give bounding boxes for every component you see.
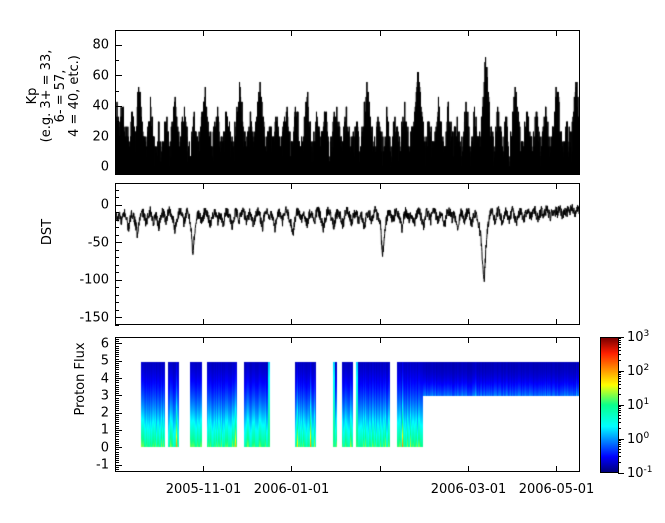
ytick-minor-mark [115, 395, 119, 396]
colorbar-minor-tick-mark [618, 342, 621, 343]
xtick-mark [556, 466, 557, 472]
ytick-minor-mark [115, 369, 119, 370]
xtick-mark [468, 319, 469, 325]
ytick-label: 20 [69, 129, 109, 144]
ytick-minor-mark [115, 287, 119, 288]
ytick-minor-mark [115, 91, 119, 92]
colorbar-minor-tick-mark [618, 381, 621, 382]
xtick-mark [380, 30, 381, 36]
colorbar-tick-label: 100 [627, 431, 649, 447]
ytick-minor-mark [115, 280, 119, 281]
ytick-minor-mark [115, 402, 119, 403]
ytick-label: 5 [69, 354, 109, 369]
ytick-minor-mark [115, 421, 119, 422]
ytick-minor-mark [115, 337, 119, 338]
ytick-minor-mark [115, 436, 119, 437]
ytick-minor-mark [115, 75, 119, 76]
colorbar-minor-tick-mark [618, 376, 621, 377]
ytick-minor-mark [115, 183, 119, 184]
ytick-minor-mark [115, 227, 119, 228]
colorbar-tick-label: 101 [627, 397, 649, 413]
ytick-minor-mark [115, 432, 119, 433]
colorbar-minor-tick-mark [618, 428, 621, 429]
ytick-minor-mark [115, 441, 119, 442]
ytick-minor-mark [115, 363, 119, 364]
xtick-label: 2006-05-01 [519, 482, 595, 497]
colorbar [600, 337, 619, 473]
colorbar-minor-tick-mark [618, 412, 621, 413]
ytick-minor-mark [115, 393, 119, 394]
ytick-label: 0 [69, 198, 109, 213]
ytick-minor-mark [115, 404, 119, 405]
ytick-minor-mark [115, 295, 119, 296]
ytick-minor-mark [115, 462, 119, 463]
ytick-minor-mark [115, 374, 119, 375]
ytick-minor-mark [115, 30, 119, 31]
colorbar-minor-tick-mark [618, 449, 621, 450]
colorbar-minor-tick-mark [618, 456, 621, 457]
ytick-minor-mark [115, 121, 119, 122]
colorbar-minor-tick-mark [618, 338, 621, 339]
ytick-minor-mark [115, 341, 119, 342]
xtick-mark [291, 169, 292, 175]
xtick-mark [380, 319, 381, 325]
ytick-minor-mark [115, 265, 119, 266]
ytick-minor-mark [115, 197, 119, 198]
ytick-label: 6 [69, 336, 109, 351]
ytick-minor-mark [115, 426, 119, 427]
ytick-minor-mark [115, 317, 119, 318]
ytick-label: 2 [69, 406, 109, 421]
xtick-label: 2006-03-01 [431, 482, 507, 497]
ytick-minor-mark [115, 447, 119, 448]
ytick-minor-mark [115, 356, 119, 357]
ytick-minor-mark [115, 400, 119, 401]
xtick-mark [380, 169, 381, 175]
ytick-minor-mark [115, 372, 119, 373]
ytick-minor-mark [115, 449, 119, 450]
colorbar-minor-tick-mark [618, 388, 621, 389]
ytick-minor-mark [115, 428, 119, 429]
kp-axis-label-line-2: (e.g. 3+ = 33, [40, 16, 54, 176]
colorbar-minor-tick-mark [618, 354, 621, 355]
colorbar-minor-tick-mark [618, 410, 621, 411]
xtick-mark [556, 183, 557, 189]
ytick-minor-mark [115, 434, 119, 435]
ytick-minor-mark [115, 430, 119, 431]
ytick-minor-mark [115, 452, 119, 453]
colorbar-minor-tick-mark [618, 422, 621, 423]
ytick-minor-mark [115, 387, 119, 388]
ytick-minor-mark [115, 350, 119, 351]
ytick-minor-mark [115, 220, 119, 221]
ytick-minor-mark [115, 45, 119, 46]
kp-series-canvas [116, 31, 579, 174]
xtick-mark [556, 319, 557, 325]
xtick-mark [203, 337, 204, 343]
xtick-label: 2006-01-01 [254, 482, 330, 497]
colorbar-tick-label: 102 [627, 363, 649, 379]
dst-series-canvas [116, 184, 579, 324]
ytick-label: 1 [69, 423, 109, 438]
ytick-minor-mark [115, 367, 119, 368]
ytick-minor-mark [115, 310, 119, 311]
colorbar-minor-tick-mark [618, 452, 621, 453]
colorbar-minor-tick-mark [618, 406, 621, 407]
ytick-minor-mark [115, 458, 119, 459]
ytick-minor-mark [115, 205, 119, 206]
colorbar-minor-tick-mark [618, 440, 621, 441]
xtick-mark [380, 337, 381, 343]
ytick-minor-mark [115, 152, 119, 153]
ytick-minor-mark [115, 257, 119, 258]
ytick-minor-mark [115, 272, 119, 273]
proton-flux-panel [115, 337, 580, 472]
colorbar-tick-label: 103 [627, 329, 649, 345]
ytick-minor-mark [115, 415, 119, 416]
colorbar-minor-tick-mark [618, 378, 621, 379]
colorbar-minor-tick-mark [618, 384, 621, 385]
figure-canvas: Kp (e.g. 3+ = 33, 6- = 57, 4 = 40, etc.)… [0, 0, 665, 523]
ytick-label: -150 [69, 310, 109, 325]
ytick-minor-mark [115, 339, 119, 340]
ytick-minor-mark [115, 471, 119, 472]
colorbar-minor-tick-mark [618, 344, 621, 345]
ytick-minor-mark [115, 343, 119, 344]
ytick-minor-mark [115, 443, 119, 444]
ytick-label: -1 [69, 458, 109, 473]
kp-panel [115, 30, 580, 175]
xtick-mark [203, 183, 204, 189]
xtick-mark [291, 30, 292, 36]
ytick-minor-mark [115, 352, 119, 353]
ytick-label: 40 [69, 99, 109, 114]
kp-axis-label-line-1: Kp [26, 16, 40, 176]
ytick-minor-mark [115, 445, 119, 446]
ytick-minor-mark [115, 354, 119, 355]
ytick-minor-mark [115, 398, 119, 399]
xtick-mark [380, 466, 381, 472]
kp-axis-label-line-3: 6- = 57, [54, 16, 68, 176]
dst-axis-label-text: DST [41, 202, 55, 262]
colorbar-minor-tick-mark [618, 372, 621, 373]
colorbar-minor-tick-mark [618, 347, 621, 348]
colorbar-minor-tick-mark [618, 418, 621, 419]
ytick-minor-mark [115, 413, 119, 414]
xtick-mark [380, 183, 381, 189]
colorbar-gradient-canvas [601, 338, 618, 472]
ytick-label: 0 [69, 440, 109, 455]
proton-flux-heatmap-canvas [116, 338, 579, 471]
ytick-minor-mark [115, 385, 119, 386]
xtick-mark [468, 466, 469, 472]
xtick-mark [556, 169, 557, 175]
colorbar-minor-tick-mark [618, 394, 621, 395]
colorbar-minor-tick-mark [618, 374, 621, 375]
ytick-minor-mark [115, 190, 119, 191]
ytick-minor-mark [115, 136, 119, 137]
colorbar-minor-tick-mark [618, 408, 621, 409]
xtick-mark [203, 169, 204, 175]
colorbar-minor-tick-mark [618, 350, 621, 351]
ytick-label: 80 [69, 38, 109, 53]
xtick-mark [291, 337, 292, 343]
xtick-mark [203, 30, 204, 36]
ytick-label: 3 [69, 388, 109, 403]
ytick-minor-mark [115, 325, 119, 326]
colorbar-minor-tick-mark [618, 415, 621, 416]
xtick-mark [291, 319, 292, 325]
xtick-mark [468, 337, 469, 343]
dst-panel [115, 183, 580, 325]
xtick-mark [468, 183, 469, 189]
xtick-mark [556, 337, 557, 343]
ytick-minor-mark [115, 106, 119, 107]
ytick-minor-mark [115, 60, 119, 61]
ytick-minor-mark [115, 408, 119, 409]
ytick-minor-mark [115, 212, 119, 213]
ytick-minor-mark [115, 419, 119, 420]
ytick-minor-mark [115, 302, 119, 303]
ytick-minor-mark [115, 378, 119, 379]
xtick-mark [468, 169, 469, 175]
ytick-minor-mark [115, 460, 119, 461]
colorbar-minor-tick-mark [618, 446, 621, 447]
ytick-label: 60 [69, 68, 109, 83]
ytick-minor-mark [115, 469, 119, 470]
ytick-minor-mark [115, 359, 119, 360]
xtick-label: 2005-11-01 [166, 482, 242, 497]
ytick-label: -50 [69, 235, 109, 250]
xtick-mark [203, 319, 204, 325]
colorbar-minor-tick-mark [618, 360, 621, 361]
xtick-mark [556, 30, 557, 36]
colorbar-tick-mark [618, 473, 624, 474]
xtick-mark [468, 30, 469, 36]
ytick-minor-mark [115, 242, 119, 243]
xtick-mark [291, 466, 292, 472]
ytick-minor-mark [115, 465, 119, 466]
ytick-label: 0 [69, 160, 109, 175]
ytick-minor-mark [115, 376, 119, 377]
xtick-mark [291, 183, 292, 189]
colorbar-minor-tick-mark [618, 442, 621, 443]
ytick-minor-mark [115, 423, 119, 424]
ytick-minor-mark [115, 467, 119, 468]
ytick-minor-mark [115, 382, 119, 383]
ytick-minor-mark [115, 346, 119, 347]
kp-axis-label: Kp (e.g. 3+ = 33, 6- = 57, 4 = 40, etc.) [0, 68, 134, 138]
ytick-minor-mark [115, 439, 119, 440]
colorbar-minor-tick-mark [618, 462, 621, 463]
ytick-minor-mark [115, 365, 119, 366]
ytick-label: -100 [69, 273, 109, 288]
ytick-minor-mark [115, 410, 119, 411]
colorbar-minor-tick-mark [618, 340, 621, 341]
xtick-mark [203, 466, 204, 472]
ytick-minor-mark [115, 250, 119, 251]
colorbar-tick-label: 10-1 [627, 465, 653, 481]
colorbar-minor-tick-mark [618, 444, 621, 445]
ytick-minor-mark [115, 235, 119, 236]
ytick-minor-mark [115, 389, 119, 390]
ytick-minor-mark [115, 348, 119, 349]
ytick-label: 4 [69, 371, 109, 386]
ytick-minor-mark [115, 391, 119, 392]
ytick-minor-mark [115, 380, 119, 381]
ytick-minor-mark [115, 454, 119, 455]
ytick-minor-mark [115, 417, 119, 418]
ytick-minor-mark [115, 406, 119, 407]
ytick-minor-mark [115, 167, 119, 168]
ytick-minor-mark [115, 361, 119, 362]
ytick-minor-mark [115, 456, 119, 457]
